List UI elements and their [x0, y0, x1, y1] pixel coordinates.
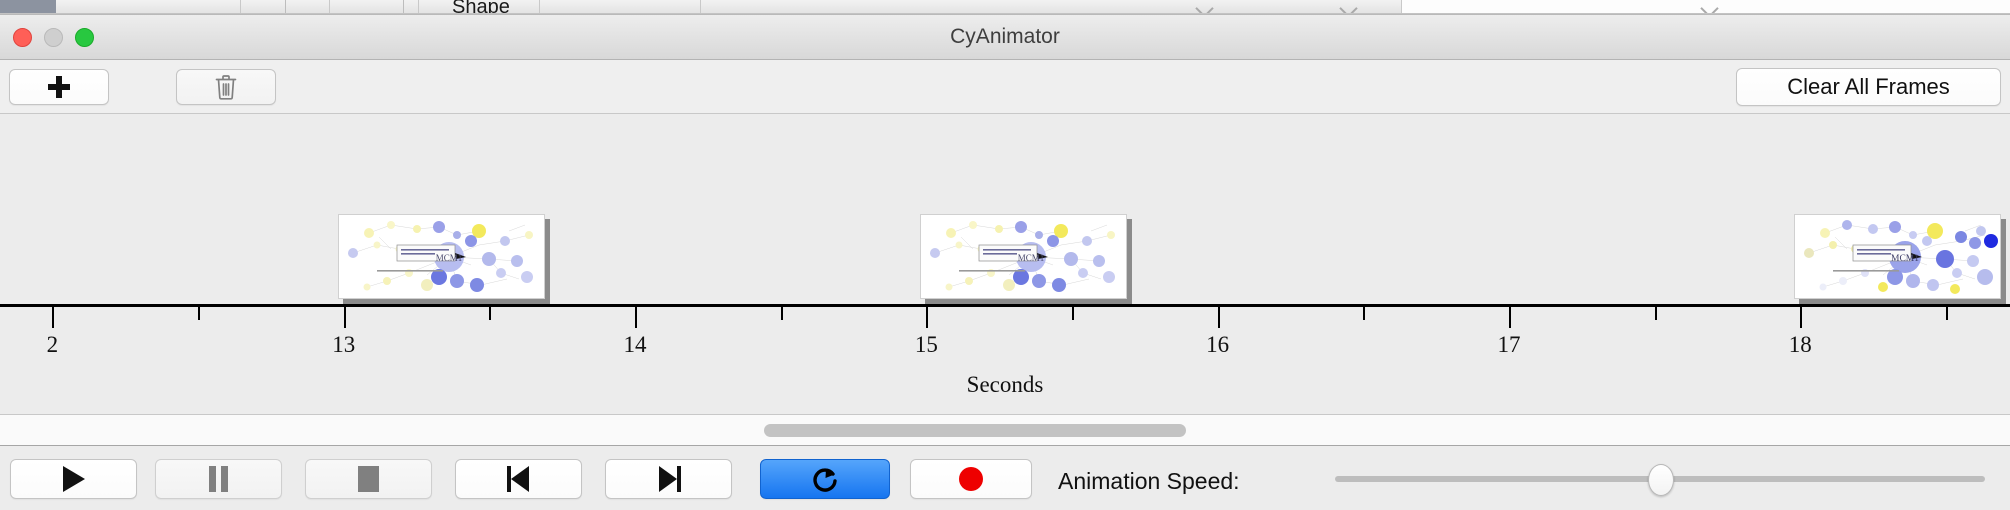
- play-button[interactable]: [10, 459, 137, 499]
- axis-title: Seconds: [0, 372, 2010, 398]
- timeline-axis[interactable]: 2131415161718 Seconds: [0, 304, 2010, 414]
- skip-next-icon: [657, 466, 681, 492]
- axis-tick-major: [1218, 307, 1220, 328]
- axis-tick-major: [344, 307, 346, 328]
- background-chevron-icon-3: [1700, 0, 1718, 14]
- axis-tick-label: 16: [1206, 332, 1229, 358]
- record-icon: [959, 467, 983, 491]
- axis-tick-major: [635, 307, 637, 328]
- axis-tick-label: 13: [332, 332, 355, 358]
- skip-to-end-button[interactable]: [605, 459, 732, 499]
- axis-tick-minor: [1072, 307, 1074, 320]
- frame-thumbnail-3[interactable]: MCM1: [1794, 214, 2006, 304]
- window-title: CyAnimator: [0, 25, 2010, 49]
- axis-tick-minor: [489, 307, 491, 320]
- stop-button[interactable]: [305, 459, 432, 499]
- add-frame-button[interactable]: [9, 69, 109, 105]
- svg-text:MCM1: MCM1: [435, 253, 462, 263]
- axis-tick-label: 15: [915, 332, 938, 358]
- background-divider-2: [403, 0, 404, 14]
- playback-controls: Animation Speed:: [0, 446, 2010, 510]
- delete-frame-button[interactable]: [176, 69, 276, 105]
- loop-toggle-button[interactable]: [760, 459, 890, 499]
- cyanimator-screenshot: Shape CyAnimator: [0, 0, 2010, 510]
- window-titlebar[interactable]: CyAnimator: [0, 15, 2010, 60]
- loop-icon: [811, 465, 839, 493]
- timeline-scrollbar[interactable]: [0, 415, 2010, 446]
- toolbar: Clear All Frames: [0, 60, 2010, 114]
- background-strip-6: [701, 0, 1402, 14]
- clear-all-frames-button[interactable]: Clear All Frames: [1736, 68, 2001, 106]
- timeline-panel[interactable]: MCM1: [0, 114, 2010, 415]
- background-strip-3: [330, 0, 419, 14]
- svg-text:MCM1: MCM1: [1891, 254, 1919, 264]
- frame-network-image: MCM1: [338, 214, 545, 299]
- axis-tick-major: [1800, 307, 1802, 328]
- frame-network-image: MCM1: [1794, 214, 2001, 299]
- background-divider-1: [285, 0, 286, 14]
- background-strip-5: [540, 0, 701, 14]
- axis-tick-major: [52, 307, 54, 328]
- background-window-label: Shape: [452, 0, 510, 14]
- skip-to-start-button[interactable]: [455, 459, 582, 499]
- pause-icon: [209, 466, 228, 492]
- play-icon: [63, 466, 85, 492]
- background-window: Shape: [0, 0, 2010, 14]
- animation-speed-slider[interactable]: [1335, 476, 1985, 482]
- frame-thumbnail-2[interactable]: MCM1: [920, 214, 1132, 304]
- axis-line: [0, 304, 2010, 307]
- animation-speed-label: Animation Speed:: [1058, 468, 1240, 495]
- axis-tick-minor: [1946, 307, 1948, 320]
- skip-previous-icon: [507, 466, 531, 492]
- axis-tick-minor: [1363, 307, 1365, 320]
- background-strip-1: [56, 0, 241, 14]
- scrollbar-thumb[interactable]: [764, 424, 1186, 437]
- axis-tick-label: 18: [1789, 332, 1812, 358]
- axis-tick-minor: [781, 307, 783, 320]
- cyanimator-window: CyAnimator Clear All Frames: [0, 14, 2010, 510]
- svg-text:MCM1: MCM1: [1018, 253, 1045, 263]
- stop-icon: [358, 466, 379, 492]
- record-button[interactable]: [910, 459, 1032, 499]
- axis-tick-minor: [198, 307, 200, 320]
- animation-speed-slider-thumb[interactable]: [1648, 464, 1674, 496]
- frames-layer: MCM1: [0, 114, 2010, 304]
- pause-button[interactable]: [155, 459, 282, 499]
- axis-tick-minor: [1655, 307, 1657, 320]
- axis-tick-label: 2: [47, 332, 59, 358]
- frame-thumbnail-1[interactable]: MCM1: [338, 214, 550, 304]
- axis-tick-major: [1509, 307, 1511, 328]
- axis-tick-label: 14: [624, 332, 647, 358]
- axis-tick-major: [926, 307, 928, 328]
- background-window-tab: [0, 0, 56, 14]
- plus-icon: [48, 76, 70, 98]
- frame-network-image: MCM1: [920, 214, 1127, 299]
- trash-icon: [214, 73, 238, 101]
- axis-tick-label: 17: [1497, 332, 1520, 358]
